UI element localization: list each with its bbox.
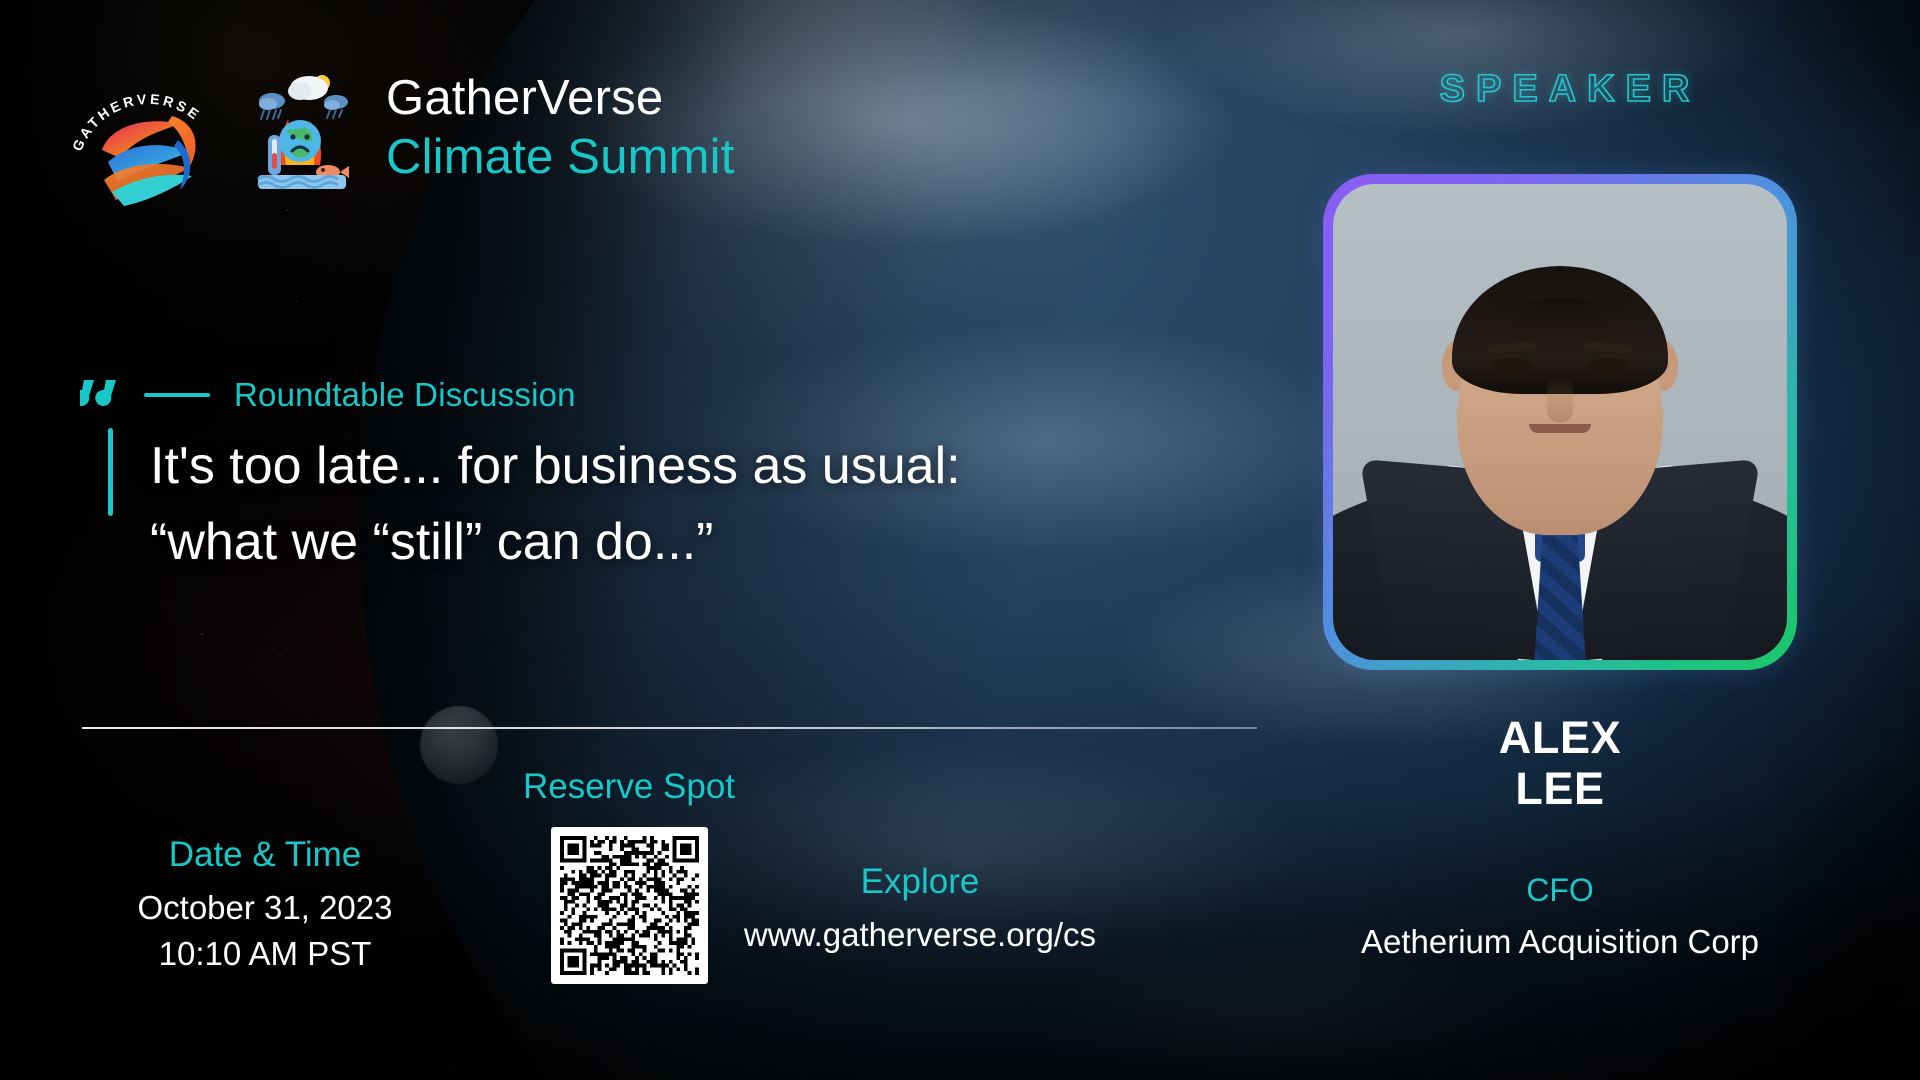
speaker-portrait-image bbox=[1333, 184, 1787, 660]
speaker-organization: Aetherium Acquisition Corp bbox=[1283, 920, 1837, 965]
section-divider bbox=[82, 727, 1257, 729]
session-quote: It's too late... for business as usual: … bbox=[150, 432, 1100, 577]
session-kicker: Roundtable Discussion bbox=[234, 376, 576, 414]
speaker-role: CFO bbox=[1323, 872, 1797, 909]
reserve-spot-heading: Reserve Spot bbox=[504, 767, 754, 807]
datetime-heading: Date & Time bbox=[100, 835, 430, 875]
quote-line-2: “what we “still” can do...” bbox=[150, 508, 1100, 578]
event-time: 10:10 AM PST bbox=[100, 931, 430, 977]
explore-block: Explore www.gatherverse.org/cs bbox=[640, 862, 1200, 958]
event-name: Climate Summit bbox=[386, 132, 735, 184]
speaker-photo-frame bbox=[1323, 174, 1797, 670]
speaker-last-name: LEE bbox=[1515, 763, 1604, 814]
speaker-announcement-card: GATHERVERSE bbox=[0, 0, 1920, 1080]
speaker-first-name: ALEX bbox=[1499, 712, 1621, 763]
datetime-block: Date & Time October 31, 2023 10:10 AM PS… bbox=[100, 835, 430, 976]
session-kicker-row: Roundtable Discussion bbox=[80, 374, 576, 416]
brand-title-block: GatherVerse Climate Summit bbox=[386, 73, 735, 184]
speaker-name: ALEX LEE bbox=[1323, 712, 1797, 815]
event-date: October 31, 2023 bbox=[100, 885, 430, 931]
quote-line-1: It's too late... for business as usual: bbox=[150, 437, 961, 495]
explore-url[interactable]: www.gatherverse.org/cs bbox=[640, 912, 1200, 958]
speaker-badge: SPEAKER bbox=[1420, 68, 1720, 111]
brand-name: GatherVerse bbox=[386, 73, 735, 125]
burning-earth-flood-emoji-icon bbox=[246, 69, 358, 191]
explore-heading: Explore bbox=[640, 862, 1200, 902]
gatherverse-ring-logo-icon: GATHERVERSE bbox=[62, 48, 236, 208]
quote-accent-bar bbox=[108, 428, 113, 516]
double-quote-icon bbox=[80, 374, 128, 416]
kicker-rule bbox=[144, 393, 210, 397]
brand-header: GATHERVERSE bbox=[62, 48, 735, 208]
